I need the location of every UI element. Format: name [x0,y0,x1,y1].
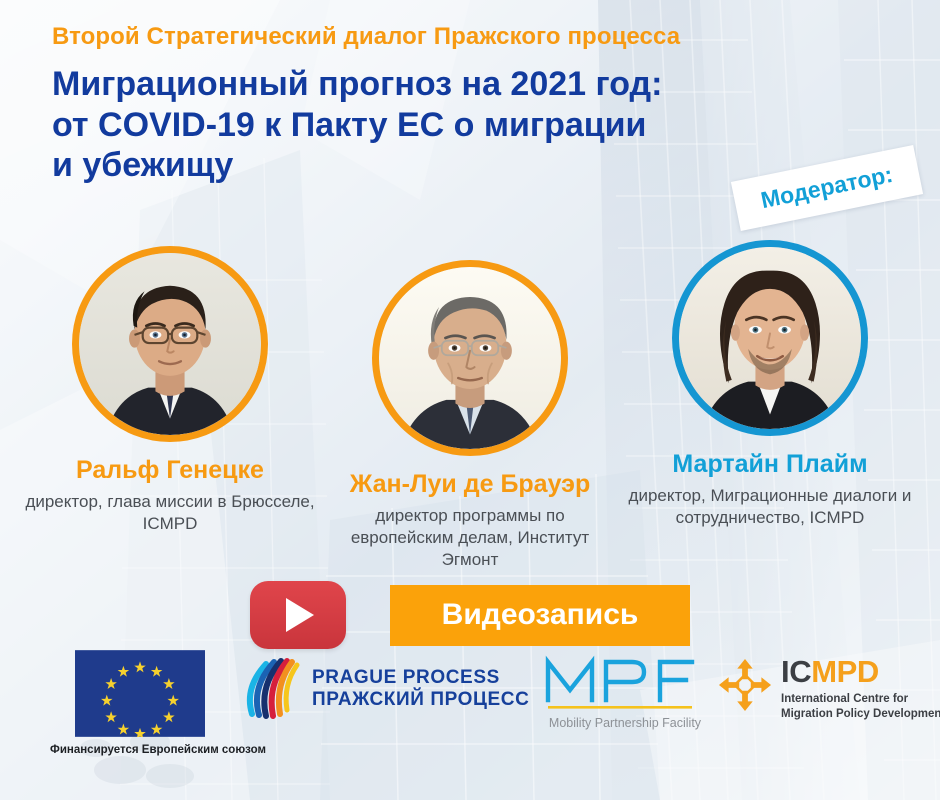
icmpd-subtitle: International Centre for Migration Polic… [781,692,940,723]
poster-canvas: Второй Стратегический диалог Пражского п… [0,0,940,800]
mpf-logo: Mobility Partnership Facility [540,652,710,730]
speaker-role: директор, глава миссии в Брюсселе, ICMPD [22,491,318,535]
page-title: Миграционный прогноз на 2021 год: от COV… [52,64,672,185]
speaker-role: директор программы по европейским делам,… [322,505,618,570]
event-series-label: Второй Стратегический диалог Пражского п… [52,24,812,50]
prague-process-line-en: PRAGUE PROCESS [312,667,529,689]
icmpd-wordmark: ICMPD [781,656,940,687]
icmpd-word-part1: IC [781,654,811,689]
icmpd-word-part2: MPD [811,654,879,689]
avatar [672,240,868,436]
speaker-list: Ральф Генецке директор, глава миссии в Б… [0,246,940,570]
footer-logos: Финансируется Европейским союзом PRAGUE … [0,640,940,800]
avatar [372,260,568,456]
speaker-card: Мартайн Плайм директор, Миграционные диа… [622,240,918,570]
speaker-name: Жан-Луи де Брауэр [350,470,591,498]
speaker-name: Ральф Генецке [76,456,264,484]
speaker-card: Ральф Генецке директор, глава миссии в Б… [22,246,318,570]
mpf-subtitle: Mobility Partnership Facility [540,716,710,730]
youtube-play-icon[interactable] [250,581,346,649]
prague-process-wordmark: PRAGUE PROCESS ПРАЖСКИЙ ПРОЦЕСС [312,667,529,711]
speaker-role: директор, Миграционные диалоги и сотрудн… [622,485,918,529]
prague-process-line-ru: ПРАЖСКИЙ ПРОЦЕСС [312,689,529,711]
icmpd-text-block: ICMPD International Centre for Migration… [781,656,940,723]
header: Второй Стратегический диалог Пражского п… [52,24,812,186]
icmpd-logo: ICMPD International Centre for Migration… [718,656,940,723]
icmpd-four-arrows-icon [718,658,772,712]
avatar [72,246,268,442]
eu-funding-block: Финансируется Европейским союзом [50,650,230,756]
video-recording-button[interactable]: Видеозапись [390,585,691,646]
play-triangle-icon [286,598,314,632]
icmpd-subtitle-line2: Migration Policy Development [781,707,940,722]
speaker-name: Мартайн Плайм [672,450,867,478]
prague-process-swoosh-icon [242,658,302,720]
eu-flag-icon [75,650,205,737]
video-cta-row: Видеозапись [0,581,940,649]
prague-process-logo: PRAGUE PROCESS ПРАЖСКИЙ ПРОЦЕСС [242,658,529,720]
mpf-wordmark-icon [540,652,700,714]
eu-funding-caption: Финансируется Европейским союзом [50,744,230,756]
icmpd-subtitle-line1: International Centre for [781,692,940,707]
speaker-card: Жан-Луи де Брауэр директор программы по … [322,260,618,570]
